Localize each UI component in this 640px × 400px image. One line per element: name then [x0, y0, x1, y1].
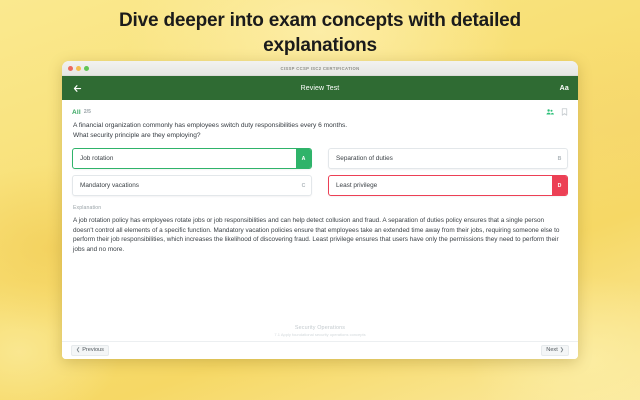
category-title: Security Operations — [72, 325, 568, 331]
text-size-button[interactable]: Aa — [560, 85, 569, 92]
people-icon[interactable] — [546, 103, 554, 121]
question-text: A financial organization commonly has em… — [72, 121, 568, 140]
question-meta-row: All 2/5 — [72, 106, 568, 118]
answer-option-a[interactable]: Job rotation A — [72, 148, 312, 169]
question-counter: 2/5 — [84, 109, 91, 115]
answer-option-b[interactable]: Separation of duties B — [328, 148, 568, 169]
answer-option-d-label: Least privilege — [329, 176, 552, 195]
promo-headline: Dive deeper into exam concepts with deta… — [0, 8, 640, 58]
chevron-right-icon: ❯ — [560, 348, 564, 353]
filter-label[interactable]: All — [72, 109, 81, 116]
answer-option-c-badge: C — [296, 176, 311, 195]
category-subtitle: 7.1 Apply foundational security operatio… — [72, 332, 568, 337]
previous-button[interactable]: ❮ Previous — [71, 345, 109, 357]
bottom-navigation: ❮ Previous Next ❯ — [62, 341, 578, 359]
answer-option-d[interactable]: Least privilege D — [328, 175, 568, 196]
next-button-label: Next — [546, 348, 558, 354]
previous-button-label: Previous — [82, 348, 104, 354]
page-title: Review Test — [62, 85, 578, 92]
content-sheet: All 2/5 — [62, 100, 578, 359]
bookmark-icon[interactable] — [561, 103, 568, 121]
question-line-2: What security principle are they employi… — [73, 131, 568, 141]
window-titlebar: CISSP CCSP ISC2 CERTIFICATION — [62, 61, 578, 76]
chevron-left-icon: ❮ — [76, 348, 80, 353]
explanation-body: A job rotation policy has employees rota… — [72, 216, 568, 254]
explanation-heading: Explanation — [72, 205, 568, 211]
question-actions — [546, 103, 568, 121]
answer-option-d-badge: D — [552, 176, 567, 195]
answer-option-b-badge: B — [552, 149, 567, 168]
answer-option-a-badge: A — [296, 149, 311, 168]
window-title: CISSP CCSP ISC2 CERTIFICATION — [62, 66, 578, 71]
answer-option-b-label: Separation of duties — [329, 149, 552, 168]
answer-option-c[interactable]: Mandatory vacations C — [72, 175, 312, 196]
question-line-1: A financial organization commonly has em… — [73, 121, 568, 131]
answer-options: Job rotation A Separation of duties B Ma… — [72, 148, 568, 196]
answer-option-a-label: Job rotation — [73, 149, 296, 168]
app-header: Review Test Aa — [62, 76, 578, 100]
app-window: CISSP CCSP ISC2 CERTIFICATION Review Tes… — [62, 61, 578, 359]
next-button[interactable]: Next ❯ — [541, 345, 569, 357]
question-panel: All 2/5 — [62, 100, 578, 341]
answer-option-c-label: Mandatory vacations — [73, 176, 296, 195]
category-footer: Security Operations 7.1 Apply foundation… — [72, 325, 568, 342]
